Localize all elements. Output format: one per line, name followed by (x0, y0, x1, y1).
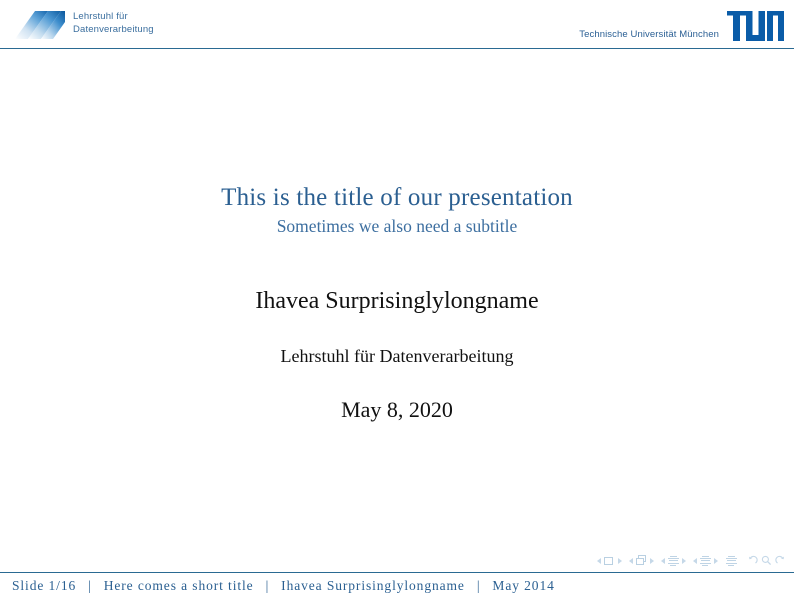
history-navigation-group[interactable] (747, 555, 786, 566)
subsection-icon[interactable] (667, 554, 680, 567)
presentation-date: May 8, 2020 (0, 397, 794, 423)
forward-icon[interactable] (775, 555, 786, 566)
frame-navigation-group[interactable] (629, 554, 654, 567)
university-name: Technische Universität München (579, 29, 719, 40)
search-icon[interactable] (761, 555, 772, 566)
department-line-1: Lehrstuhl für (73, 11, 154, 24)
next-subsection-icon[interactable] (682, 558, 686, 564)
footer-date: May 2014 (492, 578, 554, 594)
footer-divider (0, 572, 794, 573)
section-icon[interactable] (699, 554, 712, 567)
department-name: Lehrstuhl für Datenverarbeitung (73, 11, 154, 36)
tum-logo (727, 11, 784, 41)
presentation-navigation-group[interactable] (725, 554, 738, 567)
presentation-icon[interactable] (725, 554, 738, 567)
department-line-2: Datenverarbeitung (73, 24, 154, 37)
next-frame-icon[interactable] (650, 558, 654, 564)
slide-icon[interactable] (603, 554, 616, 567)
slide-header: Lehrstuhl für Datenverarbeitung Technisc… (0, 0, 794, 48)
footer-separator-3: | (465, 578, 493, 594)
next-slide-icon[interactable] (618, 558, 622, 564)
footer-slide-counter: Slide 1/16 (0, 578, 76, 594)
next-section-icon[interactable] (714, 558, 718, 564)
previous-subsection-icon[interactable] (661, 558, 665, 564)
presentation-subtitle: Sometimes we also need a subtitle (0, 216, 794, 237)
footer-separator-1: | (76, 578, 104, 594)
presentation-slide: Lehrstuhl für Datenverarbeitung Technisc… (0, 0, 794, 597)
footer-separator-2: | (254, 578, 282, 594)
title-page-body: This is the title of our presentation So… (0, 49, 794, 569)
beamer-navigation-symbols[interactable] (597, 554, 786, 567)
slide-footer: Slide 1/16 | Here comes a short title | … (0, 575, 794, 597)
subsection-navigation-group[interactable] (661, 554, 686, 567)
previous-frame-icon[interactable] (629, 558, 633, 564)
presentation-institute: Lehrstuhl für Datenverarbeitung (0, 346, 794, 367)
previous-slide-icon[interactable] (597, 558, 601, 564)
slide-navigation-group[interactable] (597, 554, 622, 567)
section-navigation-group[interactable] (693, 554, 718, 567)
lehrstuhl-datenverarbeitung-logo (14, 9, 66, 40)
back-icon[interactable] (747, 555, 758, 566)
footer-author: Ihavea Surprisinglylongname (281, 578, 465, 594)
footer-short-title: Here comes a short title (104, 578, 254, 594)
presentation-author: Ihavea Surprisinglylongname (0, 288, 794, 315)
previous-section-icon[interactable] (693, 558, 697, 564)
frame-icon[interactable] (635, 554, 648, 567)
presentation-title: This is the title of our presentation (0, 184, 794, 212)
